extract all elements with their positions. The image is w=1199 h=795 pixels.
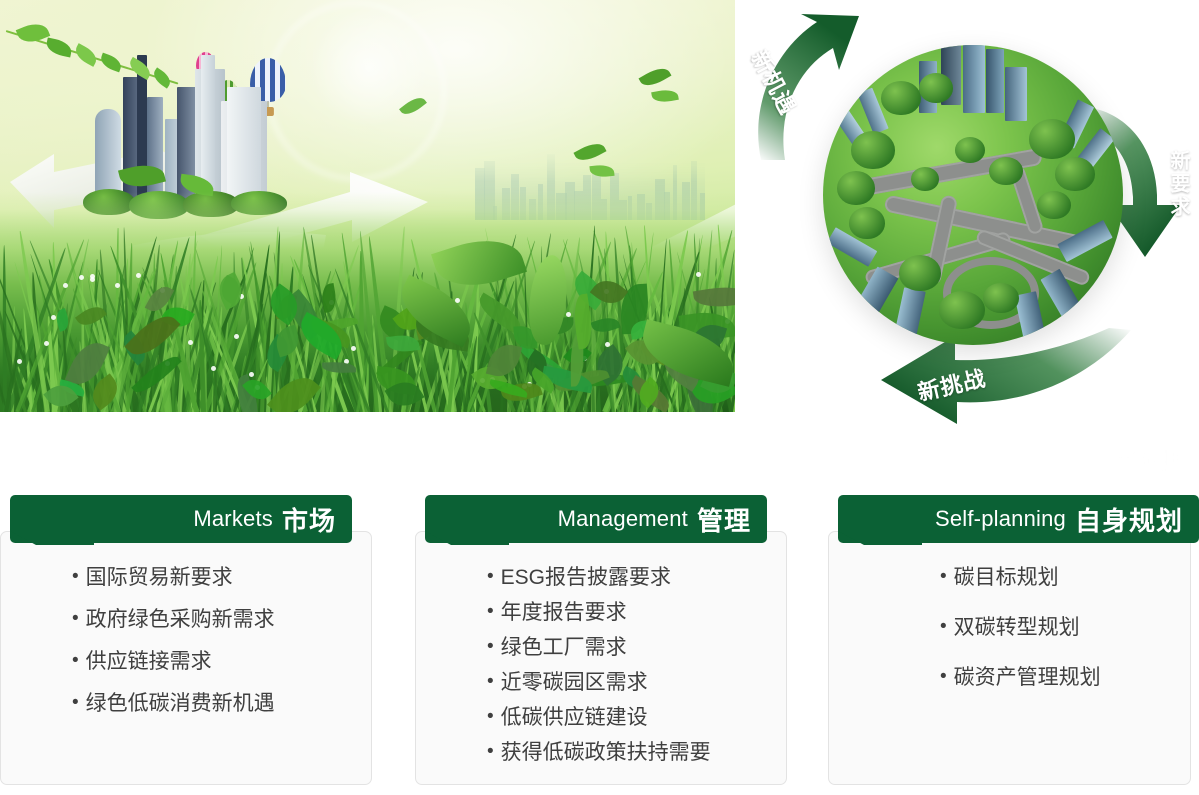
- bullet-dot: •: [940, 667, 947, 687]
- list-item-label: 获得低碳政策扶持需要: [501, 742, 711, 763]
- bullet-dot: •: [940, 617, 947, 637]
- globe-diagram: 新机遇 新要求 新挑战: [755, 10, 1199, 440]
- watermark-label: 管理: [1117, 438, 1189, 487]
- list-item: • ESG报告披露要求: [487, 567, 711, 588]
- list-item-label: 碳目标规划: [954, 567, 1059, 588]
- earth-globe: [823, 45, 1123, 345]
- card-markets-title-cn: 市场: [282, 501, 336, 538]
- card-markets-title-en: Markets: [193, 506, 273, 532]
- bullet-dot: •: [940, 567, 947, 587]
- list-item-label: ESG报告披露要求: [501, 567, 671, 588]
- list-item-label: 低碳供应链建设: [501, 707, 648, 728]
- bullet-dot: •: [487, 707, 494, 727]
- list-item: • 碳目标规划: [940, 567, 1101, 588]
- list-item: • 年度报告要求: [487, 602, 711, 623]
- list-item: • 国际贸易新要求: [72, 567, 275, 588]
- list-item-label: 近零碳园区需求: [501, 672, 648, 693]
- list-item: • 绿色低碳消费新机遇: [72, 693, 275, 714]
- list-item: • 碳资产管理规划: [940, 667, 1101, 688]
- list-item: • 近零碳园区需求: [487, 672, 711, 693]
- list-item-label: 供应链接需求: [86, 651, 212, 672]
- card-self-planning-title-en: Self-planning: [935, 506, 1066, 532]
- list-item-label: 政府绿色采购新需求: [86, 609, 275, 630]
- bullet-dot: •: [487, 567, 494, 587]
- card-management-list: • ESG报告披露要求 • 年度报告要求 • 绿色工厂需求 • 近零碳园区需求 …: [487, 567, 711, 763]
- arrow-challenge: [873, 328, 1133, 428]
- card-self-planning-list: • 碳目标规划 • 双碳转型规划 • 碳资产管理规划: [940, 567, 1101, 688]
- list-item-label: 双碳转型规划: [954, 617, 1080, 638]
- bullet-dot: •: [487, 637, 494, 657]
- card-self-planning-notch: [838, 531, 922, 545]
- arrow-label-requirement: 新要求: [1164, 150, 1193, 219]
- cards-row: Markets 市场 • 国际贸易新要求 • 政府绿色采购新需求 • 供应链接需…: [0, 495, 1199, 795]
- card-self-planning-title-cn: 自身规划: [1075, 501, 1183, 538]
- list-item: • 绿色工厂需求: [487, 637, 711, 658]
- list-item: • 低碳供应链建设: [487, 707, 711, 728]
- list-item-label: 绿色低碳消费新机遇: [86, 693, 275, 714]
- list-item-label: 绿色工厂需求: [501, 637, 627, 658]
- card-management-notch: [425, 531, 509, 545]
- list-item: • 获得低碳政策扶持需要: [487, 742, 711, 763]
- bullet-dot: •: [72, 567, 79, 587]
- bullet-dot: •: [72, 693, 79, 713]
- grass-foliage: [0, 192, 735, 412]
- card-management-title-en: Management: [558, 506, 688, 532]
- card-markets-list: • 国际贸易新要求 • 政府绿色采购新需求 • 供应链接需求 • 绿色低碳消费新…: [72, 567, 275, 714]
- card-markets-notch: [10, 531, 94, 545]
- bullet-dot: •: [72, 609, 79, 629]
- card-management-title-cn: 管理: [697, 501, 751, 538]
- bullet-dot: •: [487, 742, 494, 762]
- list-item-label: 碳资产管理规划: [954, 667, 1101, 688]
- bullet-dot: •: [487, 602, 494, 622]
- bullet-dot: •: [487, 672, 494, 692]
- list-item: • 政府绿色采购新需求: [72, 609, 275, 630]
- list-item: • 供应链接需求: [72, 651, 275, 672]
- list-item-label: 年度报告要求: [501, 602, 627, 623]
- bullet-dot: •: [72, 651, 79, 671]
- list-item-label: 国际贸易新要求: [86, 567, 233, 588]
- hero-eco-photo: [0, 0, 735, 412]
- list-item: • 双碳转型规划: [940, 617, 1101, 638]
